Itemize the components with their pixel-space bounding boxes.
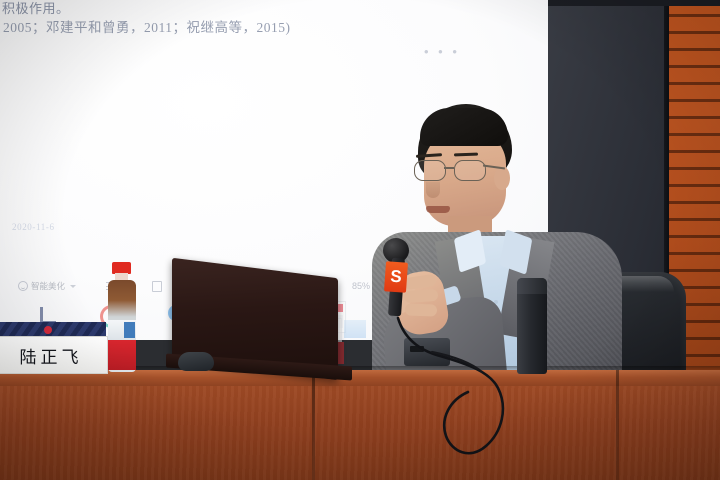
ceiling-trim: [548, 0, 720, 6]
lens-left: [414, 160, 446, 181]
ai-beautify-label: 智能美化: [31, 280, 65, 292]
microphone-logo-icon: S: [384, 261, 408, 292]
glasses-bridge: [444, 167, 454, 169]
thermos-lid: [517, 278, 547, 294]
finger: [405, 303, 437, 316]
nose: [426, 182, 440, 198]
zoom-level-indicator[interactable]: 85%: [352, 281, 370, 291]
thumbnail-blue[interactable]: [344, 320, 366, 338]
desk-wood-grain: [0, 386, 720, 480]
speaker-notes-button[interactable]: [152, 281, 162, 292]
lecture-scene-photo: 积极作用。 2005；邓建平和曾勇，2011；祝继高等，2015) • • • …: [0, 0, 720, 480]
speaker-figure: [390, 104, 620, 376]
ai-beautify-button[interactable]: 智能美化: [18, 280, 76, 292]
desk-panel-seam: [616, 370, 619, 480]
note-icon: [152, 281, 162, 292]
bottle-label-blue: [124, 322, 135, 338]
av-device-port: [410, 346, 424, 352]
glasses-icon: [414, 160, 498, 180]
mouth: [426, 206, 450, 213]
chevron-down-icon: [70, 285, 76, 288]
nameplate-label: 陆正飞: [20, 343, 83, 368]
finger: [404, 289, 439, 303]
slide-ellipsis: • • •: [424, 44, 460, 59]
banner-emblem-icon: [44, 326, 52, 334]
desk-panel-seam: [312, 370, 315, 480]
nameplate: 陆正飞: [0, 336, 108, 374]
smile-icon: [18, 281, 28, 291]
lens-right: [454, 160, 486, 181]
desk-surface: [0, 370, 720, 386]
hair-front: [420, 108, 508, 146]
av-device: [404, 338, 450, 366]
slide-date: 2020-11-6: [12, 222, 55, 232]
slide-text-line-2: 2005；邓建平和曾勇，2011；祝继高等，2015): [3, 16, 291, 36]
slide-text-line-1: 积极作用。: [2, 0, 70, 17]
computer-mouse[interactable]: [178, 352, 214, 371]
bottle-label-red: [108, 340, 136, 370]
water-bottle: [108, 262, 136, 372]
